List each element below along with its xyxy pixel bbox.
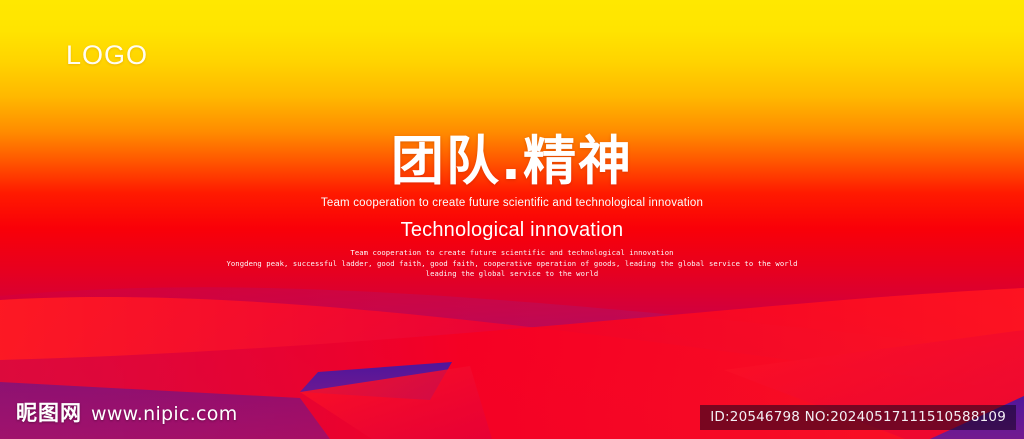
watermark-brand-cn: 昵图网 bbox=[16, 397, 82, 427]
tagline-english: Technological innovation bbox=[0, 217, 1024, 243]
headline-block: 团队.精神 Team cooperation to create future … bbox=[0, 132, 1024, 280]
page-title: 团队.精神 bbox=[0, 132, 1024, 192]
fineprint-line-2: Yongdeng peak, successful ladder, good f… bbox=[0, 259, 1024, 270]
watermark: 昵图网 www.nipic.com bbox=[16, 397, 238, 427]
wave-purple-diamond bbox=[300, 362, 452, 400]
subtitle-english: Team cooperation to create future scient… bbox=[0, 196, 1024, 211]
fineprint-line-3: leading the global service to the world bbox=[0, 269, 1024, 280]
wave-red-bottom-triangle bbox=[300, 366, 492, 439]
logo-text[interactable]: LOGO bbox=[66, 40, 148, 71]
poster-canvas: LOGO 团队.精神 Team cooperation to create fu… bbox=[0, 0, 1024, 439]
image-id-badge: ID:20546798 NO:20240517111510588109 bbox=[700, 405, 1016, 430]
fineprint-line-1: Team cooperation to create future scient… bbox=[0, 248, 1024, 259]
watermark-url: www.nipic.com bbox=[91, 403, 238, 425]
fineprint-block: Team cooperation to create future scient… bbox=[0, 248, 1024, 280]
